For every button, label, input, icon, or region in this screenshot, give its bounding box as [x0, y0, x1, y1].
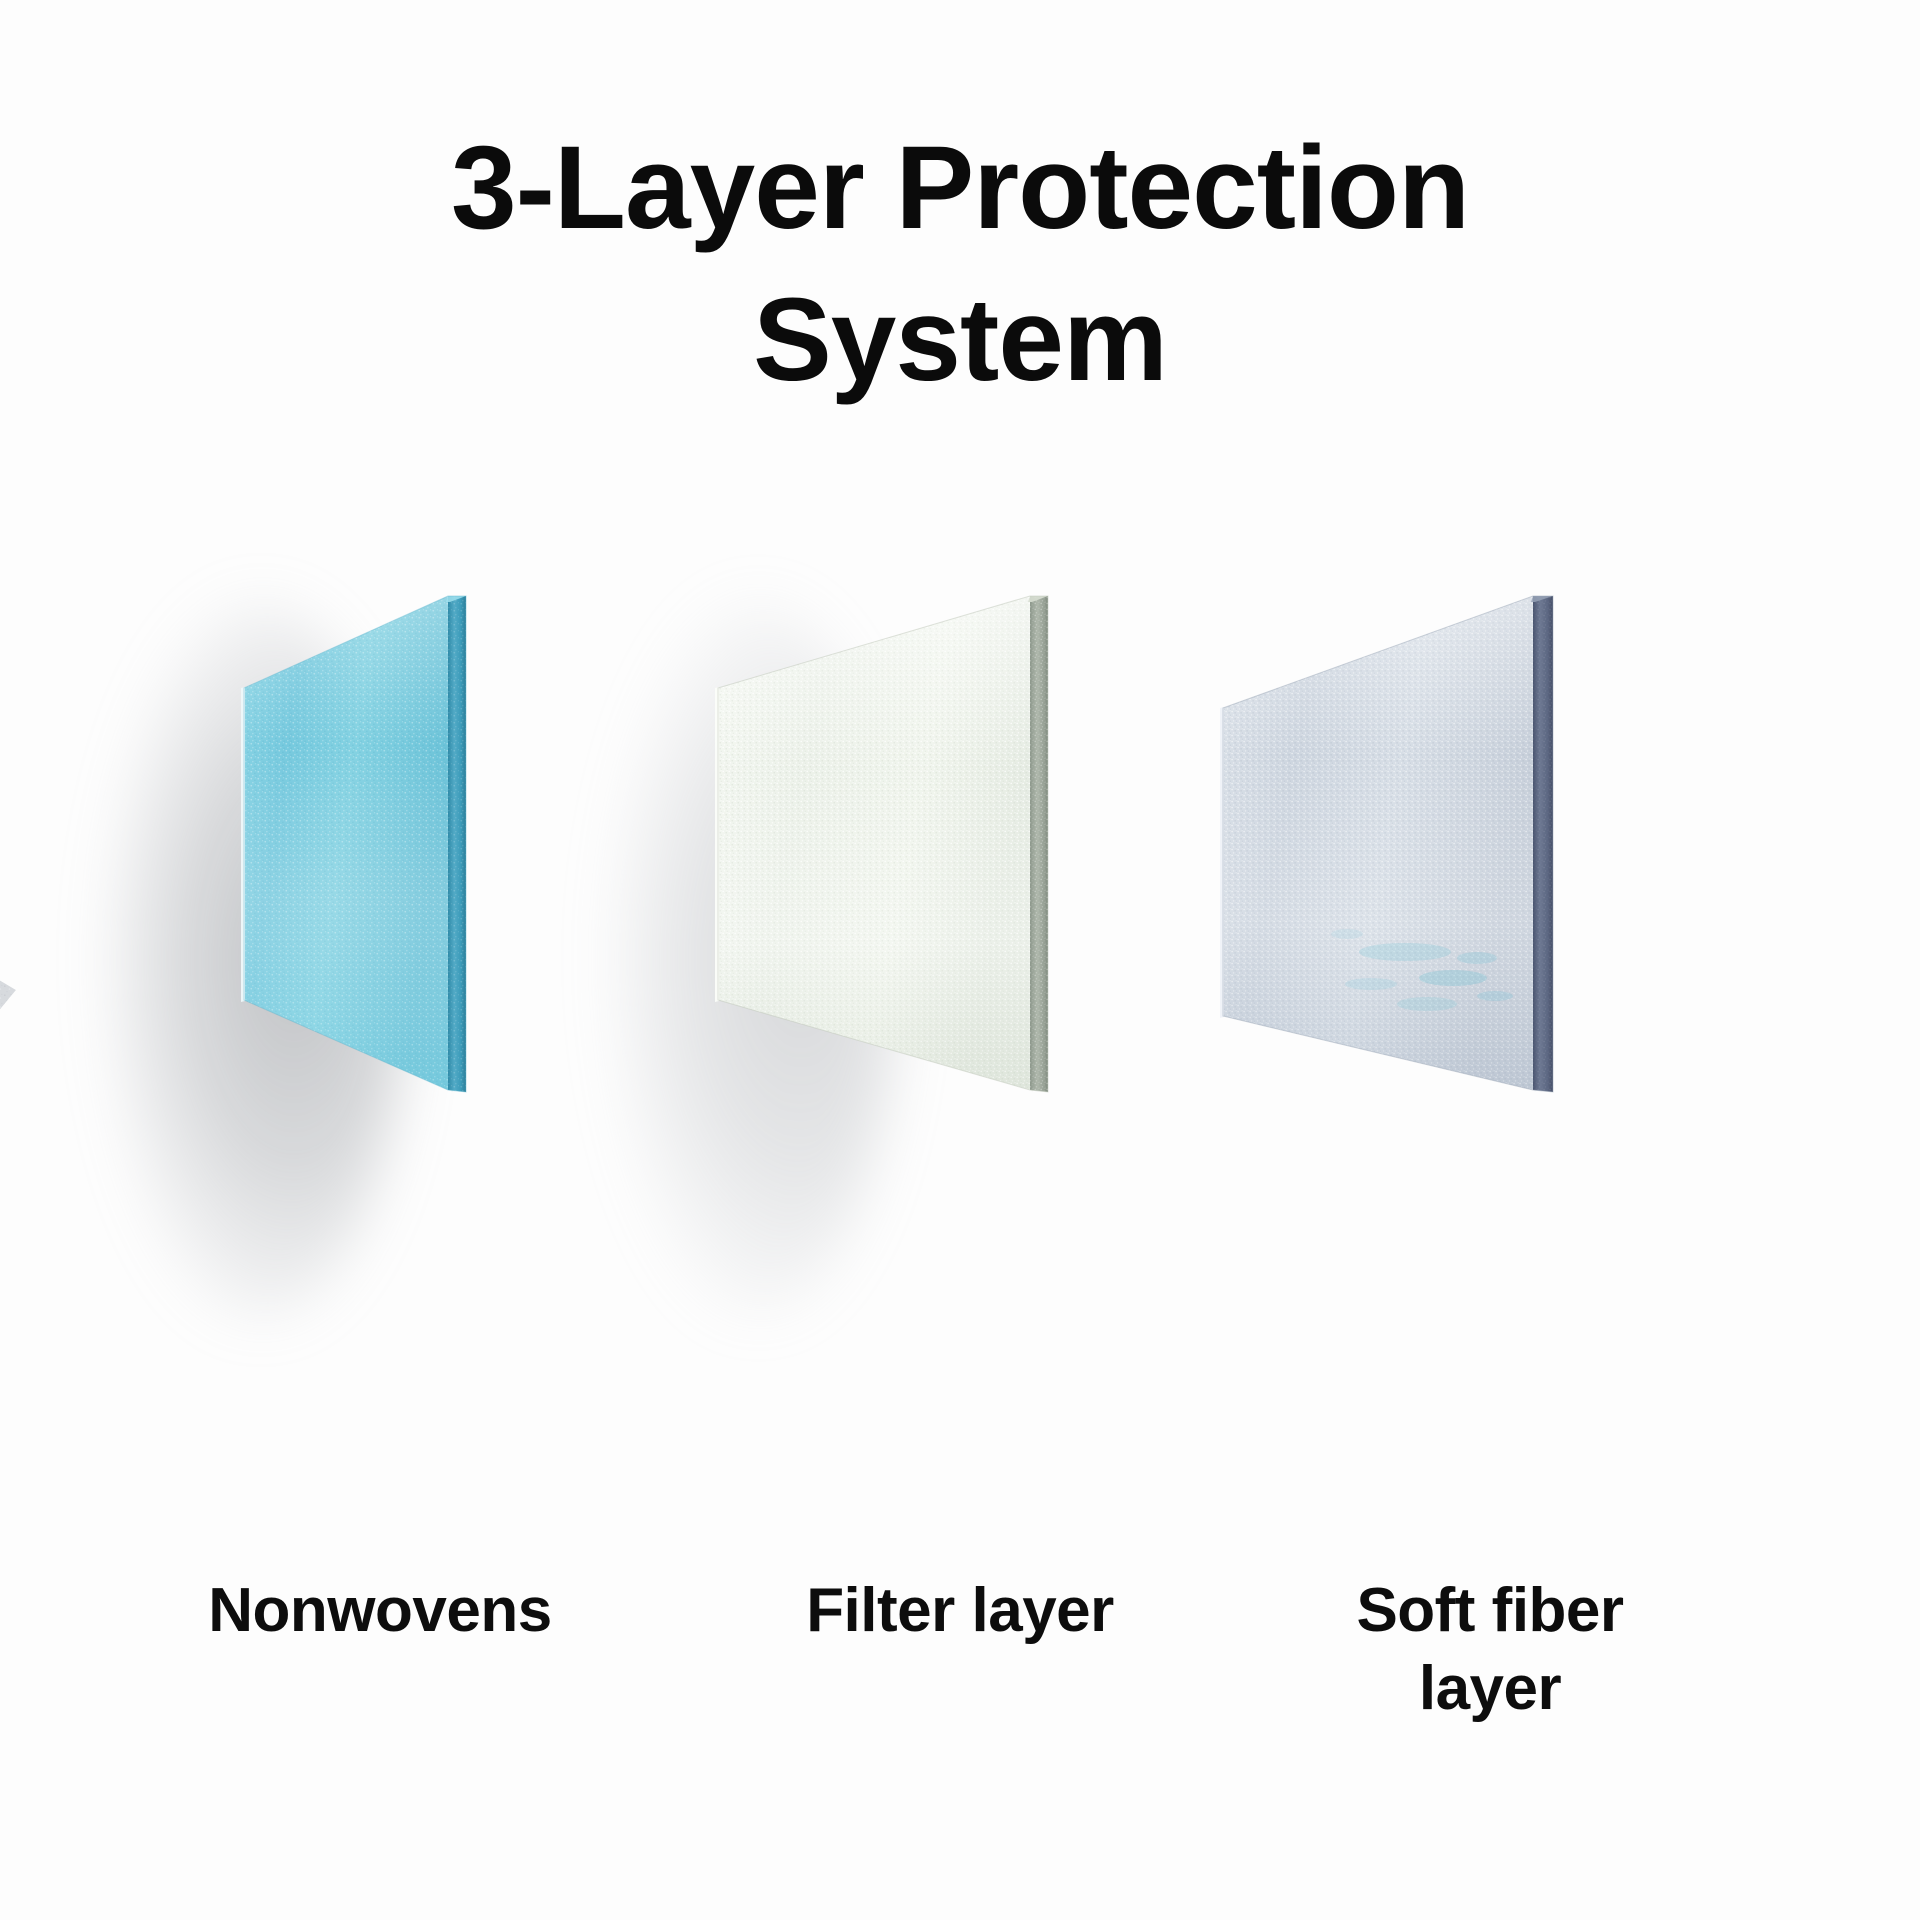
label-filter-layer-text: Filter layer	[806, 1576, 1114, 1645]
label-soft-fiber-layer: Soft fiber layer	[1240, 1572, 1740, 1728]
label-nonwovens-text: Nonwovens	[208, 1576, 551, 1645]
label-filter-layer: Filter layer	[680, 1572, 1240, 1650]
label-soft-fiber-line-1: Soft fiber	[1356, 1576, 1623, 1645]
title-line-2: System	[0, 264, 1920, 416]
layer-labels: Nonwovens Filter layer Soft fiber layer	[0, 1572, 1920, 1832]
product-infographic: 3-Layer Protection System	[0, 0, 1920, 1920]
title-line-1: 3-Layer Protection	[0, 112, 1920, 264]
contaminated-sample-swatch	[0, 768, 164, 1188]
page-title: 3-Layer Protection System	[0, 112, 1920, 416]
label-soft-fiber-line-2: layer	[1419, 1654, 1561, 1723]
layer-panel-filter	[710, 560, 1070, 1160]
layer-panel-soft-fiber	[1195, 560, 1595, 1160]
layer-panel-nonwovens	[236, 560, 536, 1160]
label-nonwovens: Nonwovens	[100, 1572, 660, 1650]
